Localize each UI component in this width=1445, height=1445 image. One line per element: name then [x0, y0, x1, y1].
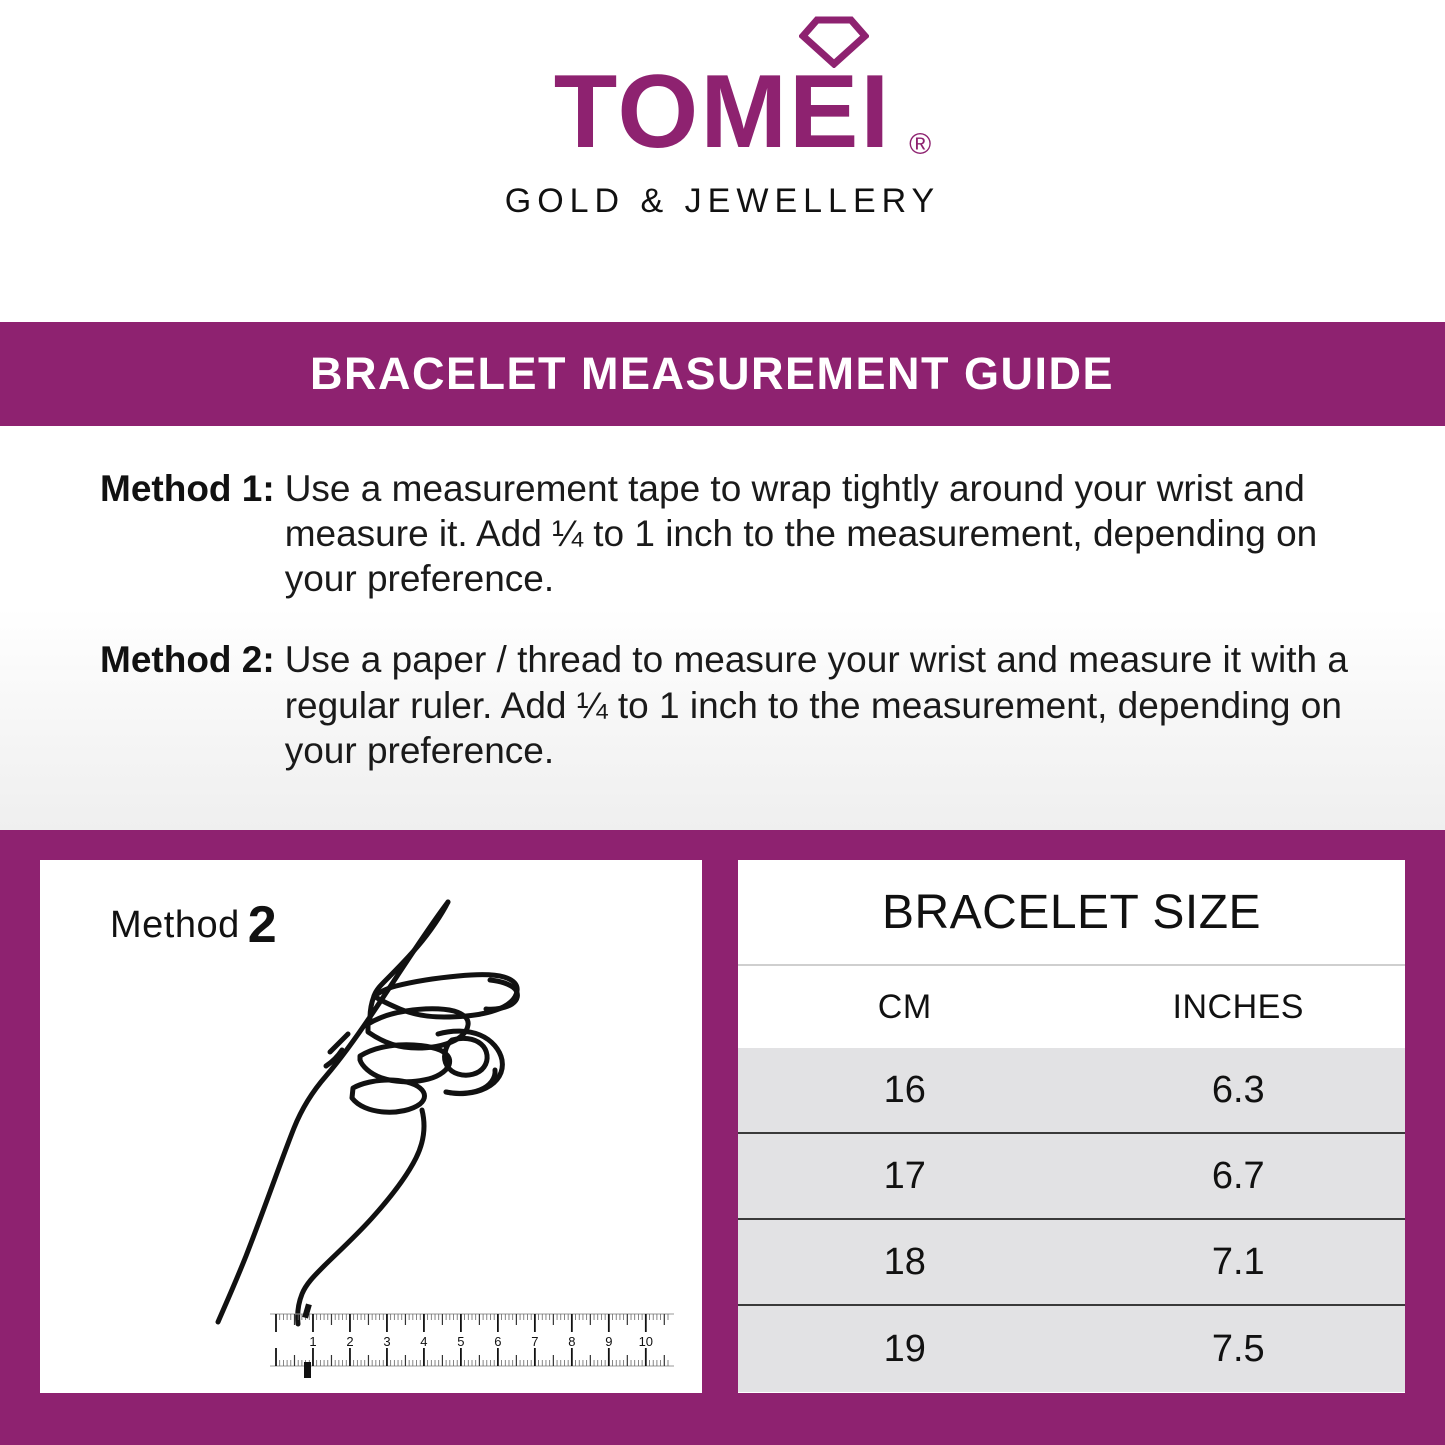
bracelet-measurement-guide-page: TOMEI ® GOLD & JEWELLERY BRACELET MEASUR… — [0, 0, 1445, 1445]
table-header-row: CM INCHES — [738, 966, 1405, 1048]
method-2-label: Method 2: — [100, 637, 285, 682]
cell-cm: 16 — [738, 1069, 1072, 1112]
ruler-tick-label: 3 — [383, 1334, 390, 1349]
hand-pinching-icon — [190, 880, 570, 1330]
ruler-icon: 12345678910 — [262, 1300, 682, 1385]
column-header-inches: INCHES — [1072, 988, 1406, 1027]
ruler-tick-label: 6 — [494, 1334, 501, 1349]
brand-header: TOMEI ® GOLD & JEWELLERY — [0, 0, 1445, 322]
methods-section: Method 1: Use a measurement tape to wrap… — [0, 426, 1445, 830]
brand-wordmark: TOMEI — [554, 60, 891, 164]
bracelet-size-table-card: BRACELET SIZE CM INCHES 16 6.3 17 6.7 18… — [738, 860, 1405, 1393]
table-row: 17 6.7 — [738, 1134, 1405, 1220]
method-1-text: Use a measurement tape to wrap tightly a… — [285, 466, 1375, 601]
ruler-tick-label: 4 — [420, 1334, 427, 1349]
cell-inches: 6.3 — [1072, 1069, 1406, 1112]
ruler-tick-label: 2 — [346, 1334, 353, 1349]
cell-cm: 18 — [738, 1241, 1072, 1284]
method-1-block: Method 1: Use a measurement tape to wrap… — [100, 466, 1375, 601]
brand-tagline: GOLD & JEWELLERY — [443, 182, 1003, 221]
method-2-text: Use a paper / thread to measure your wri… — [285, 637, 1375, 772]
diamond-icon — [799, 16, 869, 68]
ruler-tick-label: 8 — [568, 1334, 575, 1349]
ruler-tick-label: 5 — [457, 1334, 464, 1349]
table-row: 19 7.5 — [738, 1306, 1405, 1392]
method-2-block: Method 2: Use a paper / thread to measur… — [100, 637, 1375, 772]
illustration-card: Method2 — [40, 860, 702, 1393]
table-title: BRACELET SIZE — [738, 860, 1405, 966]
registered-trademark-icon: ® — [909, 130, 931, 160]
column-header-cm: CM — [738, 988, 1072, 1027]
table-row: 18 7.1 — [738, 1220, 1405, 1306]
method-1-label: Method 1: — [100, 466, 285, 511]
page-banner: BRACELET MEASUREMENT GUIDE — [0, 322, 1445, 426]
cell-inches: 7.5 — [1072, 1328, 1406, 1371]
page-title: BRACELET MEASUREMENT GUIDE — [310, 348, 1114, 400]
ruler-tick-label: 9 — [605, 1334, 612, 1349]
brand-wordmark-row: TOMEI ® — [554, 60, 891, 164]
ruler-tick-label: 7 — [531, 1334, 538, 1349]
brand-logo: TOMEI ® GOLD & JEWELLERY — [443, 60, 1003, 221]
cell-inches: 6.7 — [1072, 1155, 1406, 1198]
bottom-panel: Method2 — [0, 830, 1445, 1445]
cell-cm: 17 — [738, 1155, 1072, 1198]
ruler-tick-label: 1 — [309, 1334, 316, 1349]
ruler-tick-label: 10 — [639, 1334, 653, 1349]
table-row: 16 6.3 — [738, 1048, 1405, 1134]
cell-inches: 7.1 — [1072, 1241, 1406, 1284]
cell-cm: 19 — [738, 1328, 1072, 1371]
